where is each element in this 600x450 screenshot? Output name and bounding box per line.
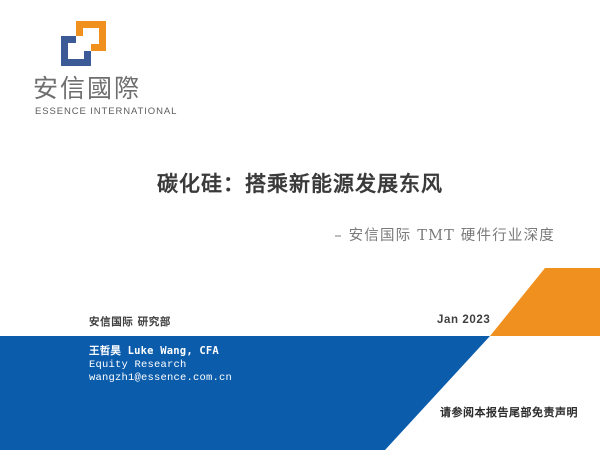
author-name: 王哲昊 Luke Wang, CFA xyxy=(89,345,232,359)
disclaimer-note: 请参阅本报告尾部免责声明 xyxy=(440,404,578,420)
publication-date: Jan 2023 xyxy=(437,314,490,326)
presentation-cover-slide: 安信國際 ESSENCE INTERNATIONAL 碳化硅：搭乘新能源发展东风… xyxy=(0,0,600,450)
author-email[interactable]: wangzh1@essence.com.cn xyxy=(89,372,232,386)
author-contact-block: 王哲昊 Luke Wang, CFA Equity Research wangz… xyxy=(89,345,232,386)
square-overlap-fill xyxy=(76,36,91,51)
author-role: Equity Research xyxy=(89,359,232,373)
department-label: 安信国际 研究部 xyxy=(89,314,171,329)
